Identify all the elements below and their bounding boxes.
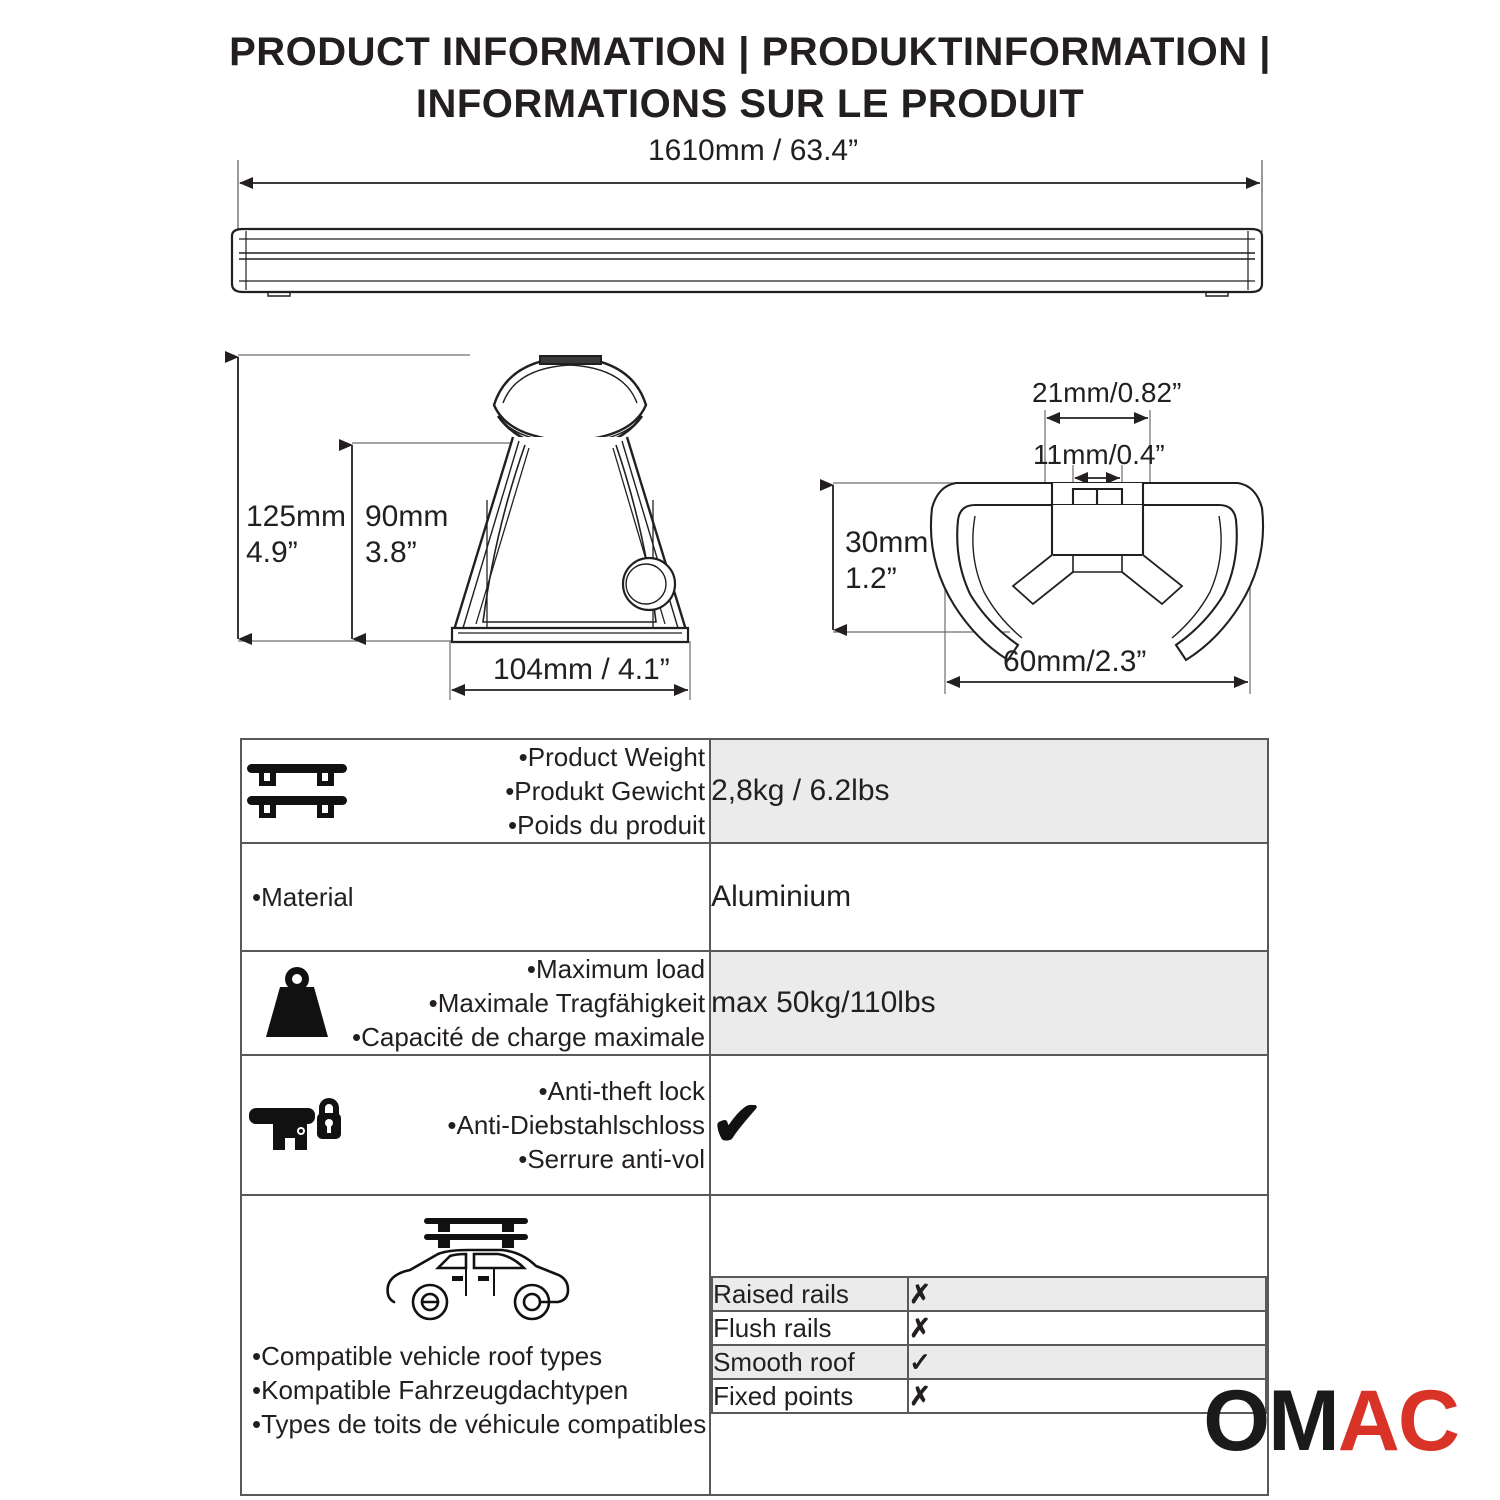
roof-types-label-fr: •Types de toits de véhicule compatibles [252,1407,709,1441]
dim-bar-length: 1610mm / 63.4” [648,133,858,169]
anti-theft-label-cell: •Anti-theft lock •Anti-Diebstahlschloss … [241,1055,710,1195]
roof-row-raised-rails: Raised rails ✗ [712,1277,1266,1311]
material-label: •Material [252,880,705,914]
roof-row-flush-rails: Flush rails ✗ [712,1311,1266,1345]
material-labels: •Material [242,880,709,914]
anti-theft-label-de: •Anti-Diebstahlschloss [352,1108,705,1142]
weight-label-en: •Product Weight [352,740,705,774]
dim-tower-width: 104mm / 4.1” [493,652,670,688]
title-line-1: PRODUCT INFORMATION | PRODUKTINFORMATION… [0,26,1500,78]
anti-theft-label-fr: •Serrure anti-vol [352,1142,705,1176]
logo-text-om: OM [1203,1373,1338,1469]
anti-theft-check-icon: ✔ [711,1094,1267,1156]
roof-name-smooth-roof: Smooth roof [712,1345,908,1379]
roof-types-label-en: •Compatible vehicle roof types [252,1339,709,1373]
material-label-cell: •Material [241,843,710,951]
weight-value: 2,8kg / 6.2lbs [711,771,1267,811]
roof-row-fixed-points: Fixed points ✗ [712,1379,1266,1413]
roof-name-raised-rails: Raised rails [712,1277,908,1311]
roof-types-matrix-cell: Raised rails ✗ Flush rails ✗ Smooth roof… [710,1195,1268,1495]
car-with-rack-icon [242,1210,709,1333]
omac-logo: OMAC [1203,1378,1458,1464]
dim-tower-height-inner: 90mm 3.8” [365,499,448,571]
dim-slot-outer: 21mm/0.82” [1032,375,1181,411]
max-load-value-cell: max 50kg/110lbs [710,951,1268,1055]
anti-theft-value-cell: ✔ [710,1055,1268,1195]
max-load-label-en: •Maximum load [352,952,705,986]
max-load-label-cell: •Maximum load •Maximale Tragfähigkeit •C… [241,951,710,1055]
weight-label-de: •Produkt Gewicht [352,774,705,808]
title-line-2: INFORMATIONS SUR LE PRODUIT [0,78,1500,130]
max-load-label-fr: •Capacité de charge maximale [352,1020,705,1054]
weight-labels: •Product Weight •Produkt Gewicht •Poids … [352,740,709,842]
dim-slot-inner: 11mm/0.4” [1033,437,1165,473]
dim-tower-height-total: 125mm 4.9” [246,499,346,571]
table-row-roof-types: •Compatible vehicle roof types •Kompatib… [241,1195,1268,1495]
page-title: PRODUCT INFORMATION | PRODUKTINFORMATION… [0,26,1500,130]
lock-icon [242,1090,352,1160]
roof-types-label-cell: •Compatible vehicle roof types •Kompatib… [241,1195,710,1495]
roof-name-fixed-points: Fixed points [712,1379,908,1413]
roof-mark-raised-rails: ✗ [908,1277,1266,1311]
roof-mark-flush-rails: ✗ [908,1311,1266,1345]
max-load-value: max 50kg/110lbs [711,983,1267,1023]
weight-label-fr: •Poids du produit [352,808,705,842]
dim-profile-width: 60mm/2.3” [1003,644,1146,680]
anti-theft-label-en: •Anti-theft lock [352,1074,705,1108]
anti-theft-labels: •Anti-theft lock •Anti-Diebstahlschloss … [352,1074,709,1176]
table-row-weight: •Product Weight •Produkt Gewicht •Poids … [241,739,1268,843]
max-load-label-de: •Maximale Tragfähigkeit [352,986,705,1020]
roof-types-labels: •Compatible vehicle roof types •Kompatib… [242,1333,709,1441]
product-information-sheet: PRODUCT INFORMATION | PRODUKTINFORMATION… [0,0,1500,1500]
weight-label-cell: •Product Weight •Produkt Gewicht •Poids … [241,739,710,843]
material-value-cell: Aluminium [710,843,1268,951]
logo-text-ac: AC [1338,1373,1458,1469]
crossbars-icon [242,760,352,822]
table-row-material: •Material Aluminium [241,843,1268,951]
weight-icon [242,965,352,1041]
dim-profile-height: 30mm 1.2” [845,525,928,597]
max-load-labels: •Maximum load •Maximale Tragfähigkeit •C… [352,952,709,1054]
weight-value-cell: 2,8kg / 6.2lbs [710,739,1268,843]
table-row-max-load: •Maximum load •Maximale Tragfähigkeit •C… [241,951,1268,1055]
specification-table: •Product Weight •Produkt Gewicht •Poids … [240,738,1269,1496]
roof-types-table: Raised rails ✗ Flush rails ✗ Smooth roof… [711,1276,1267,1414]
roof-row-smooth-roof: Smooth roof ✓ [712,1345,1266,1379]
roof-name-flush-rails: Flush rails [712,1311,908,1345]
table-row-anti-theft: •Anti-theft lock •Anti-Diebstahlschloss … [241,1055,1268,1195]
roof-types-label-de: •Kompatible Fahrzeugdachtypen [252,1373,709,1407]
material-value: Aluminium [711,877,1267,917]
